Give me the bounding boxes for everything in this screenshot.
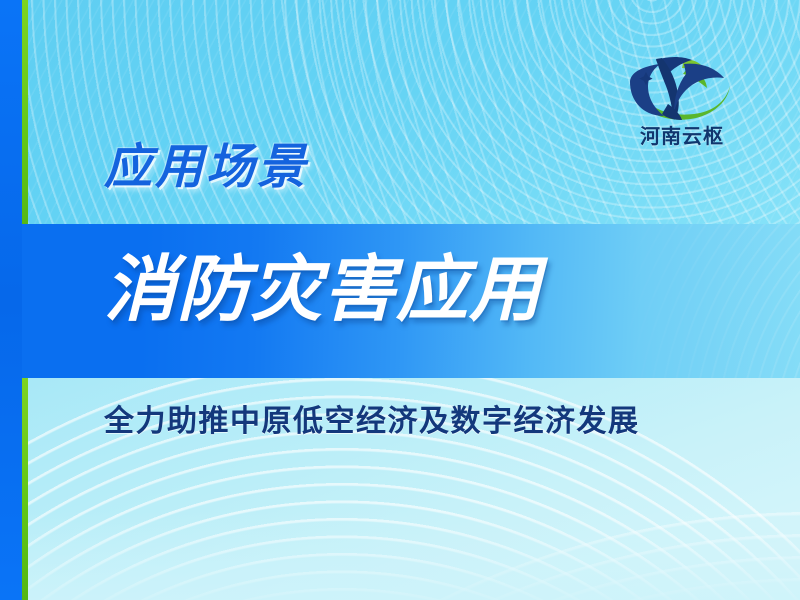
subtitle-tagline: 全力助推中原低空经济及数字经济发展 bbox=[104, 404, 640, 440]
poster-canvas: 河南云枢 应用场景 消防灾害应用 全力助推中原低空经济及数字经济发展 bbox=[0, 0, 800, 600]
left-blue-rail bbox=[0, 0, 22, 600]
bird-swallow-logo-icon bbox=[612, 46, 752, 126]
green-accent-bar-top bbox=[22, 0, 28, 224]
brand-logo: 河南云枢 bbox=[612, 46, 752, 152]
page-title: 消防灾害应用 bbox=[104, 254, 542, 326]
eyebrow-heading: 应用场景 bbox=[104, 144, 308, 192]
green-accent-bar-bottom bbox=[22, 378, 28, 600]
brand-name-text: 河南云枢 bbox=[612, 120, 752, 149]
